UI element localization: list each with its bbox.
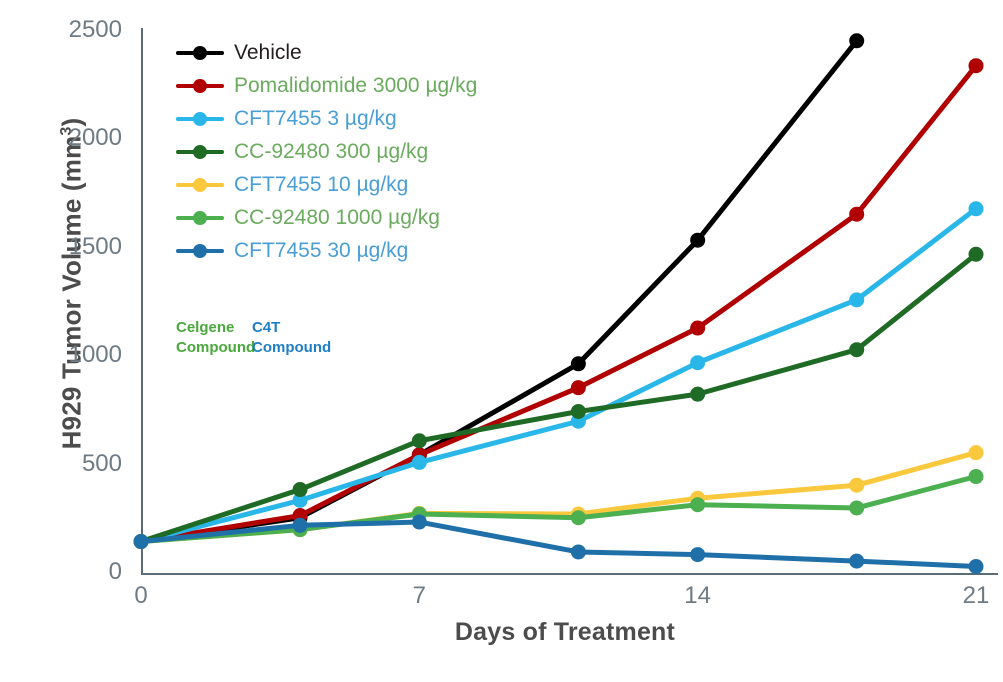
data-point (690, 321, 705, 336)
legend-swatch-icon (176, 241, 224, 261)
legend-label: Vehicle (234, 42, 302, 63)
data-point (969, 559, 984, 574)
data-point (412, 455, 427, 470)
data-point (293, 518, 308, 533)
legend-label: CFT7455 3 µg/kg (234, 108, 397, 129)
legend-item[interactable]: Vehicle (176, 36, 506, 69)
legend-item[interactable]: CC-92480 300 µg/kg (176, 135, 506, 168)
compound-origin-note: Celgene CompoundC4T Compound (176, 318, 331, 359)
data-point (969, 58, 984, 73)
data-point (690, 233, 705, 248)
legend-swatch-icon (176, 76, 224, 96)
chart-legend: VehiclePomalidomide 3000 µg/kgCFT7455 3 … (176, 36, 506, 267)
legend-item[interactable]: CC-92480 1000 µg/kg (176, 201, 506, 234)
data-point (849, 292, 864, 307)
x-axis-tick-label: 0 (101, 584, 181, 608)
x-axis-tick-label: 21 (936, 584, 1003, 608)
c4t-compound-note: C4T Compound (252, 318, 331, 359)
data-point (571, 404, 586, 419)
data-point (134, 534, 149, 549)
x-axis-tick-label: 14 (658, 584, 738, 608)
data-point (293, 482, 308, 497)
legend-label: CFT7455 30 µg/kg (234, 240, 408, 261)
y-axis-tick-label: 2500 (22, 18, 122, 42)
data-point (690, 355, 705, 370)
legend-item[interactable]: Pomalidomide 3000 µg/kg (176, 69, 506, 102)
data-point (849, 33, 864, 48)
data-point (969, 247, 984, 262)
x-axis-title: Days of Treatment (130, 618, 1000, 647)
data-point (969, 469, 984, 484)
data-point (849, 342, 864, 357)
legend-swatch-icon (176, 175, 224, 195)
chart-root: H929 Tumor Volume (mm3) 0500100015002000… (0, 0, 1003, 682)
legend-item[interactable]: CFT7455 10 µg/kg (176, 168, 506, 201)
x-axis-tick-label: 7 (379, 584, 459, 608)
data-point (849, 207, 864, 222)
y-axis-tick-label: 2000 (22, 126, 122, 150)
data-point (849, 478, 864, 493)
data-point (412, 433, 427, 448)
data-point (571, 544, 586, 559)
legend-item[interactable]: CFT7455 3 µg/kg (176, 102, 506, 135)
legend-label: CC-92480 1000 µg/kg (234, 207, 440, 228)
y-axis-tick-label: 0 (22, 560, 122, 584)
data-point (571, 356, 586, 371)
data-point (849, 554, 864, 569)
y-axis-tick-label: 1500 (22, 235, 122, 259)
y-axis-tick-label: 1000 (22, 343, 122, 367)
legend-swatch-icon (176, 142, 224, 162)
legend-label: CFT7455 10 µg/kg (234, 174, 408, 195)
legend-swatch-icon (176, 109, 224, 129)
legend-swatch-icon (176, 43, 224, 63)
data-point (690, 387, 705, 402)
data-point (969, 201, 984, 216)
data-point (412, 515, 427, 530)
data-point (571, 380, 586, 395)
data-point (849, 500, 864, 515)
data-point (690, 497, 705, 512)
y-axis-tick-label: 500 (22, 452, 122, 476)
y-axis-tick-labels: 05001000150020002500 (0, 0, 122, 682)
legend-label: Pomalidomide 3000 µg/kg (234, 75, 477, 96)
legend-swatch-icon (176, 208, 224, 228)
data-point (690, 547, 705, 562)
legend-item[interactable]: CFT7455 30 µg/kg (176, 234, 506, 267)
legend-label: CC-92480 300 µg/kg (234, 141, 428, 162)
data-point (571, 510, 586, 525)
data-point (969, 445, 984, 460)
celgene-compound-note: Celgene Compound (176, 318, 252, 359)
